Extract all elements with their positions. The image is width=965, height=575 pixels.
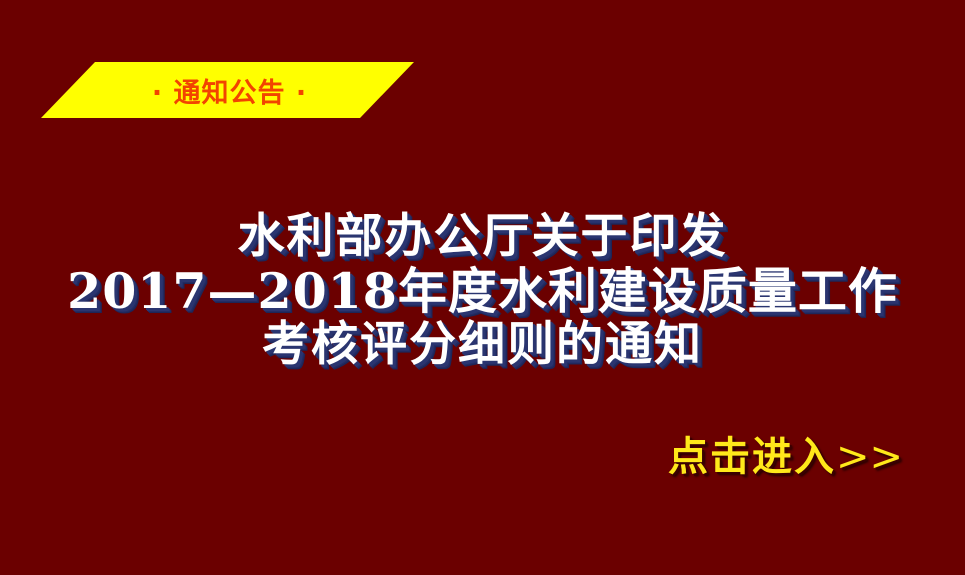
announcement-banner-card: · 通知公告 · 水利部办公厅关于印发 2017—2018年度水利建设质量工作 … — [0, 0, 965, 575]
section-tag-label: · 通知公告 · — [41, 62, 414, 118]
click-to-enter-link[interactable]: 点击进入>> — [668, 434, 903, 480]
announcement-title-line-3: 考核评分细则的通知 — [0, 318, 965, 372]
announcement-title-line-2: 2017—2018年度水利建设质量工作 — [0, 264, 965, 318]
click-to-enter-label: 点击进入 — [668, 433, 836, 480]
announcement-title-line-1: 水利部办公厅关于印发 — [0, 210, 965, 264]
section-tag-notice: · 通知公告 · — [41, 62, 414, 118]
announcement-title: 水利部办公厅关于印发 2017—2018年度水利建设质量工作 考核评分细则的通知 — [0, 210, 965, 372]
double-chevron-right-icon: >> — [836, 434, 903, 480]
